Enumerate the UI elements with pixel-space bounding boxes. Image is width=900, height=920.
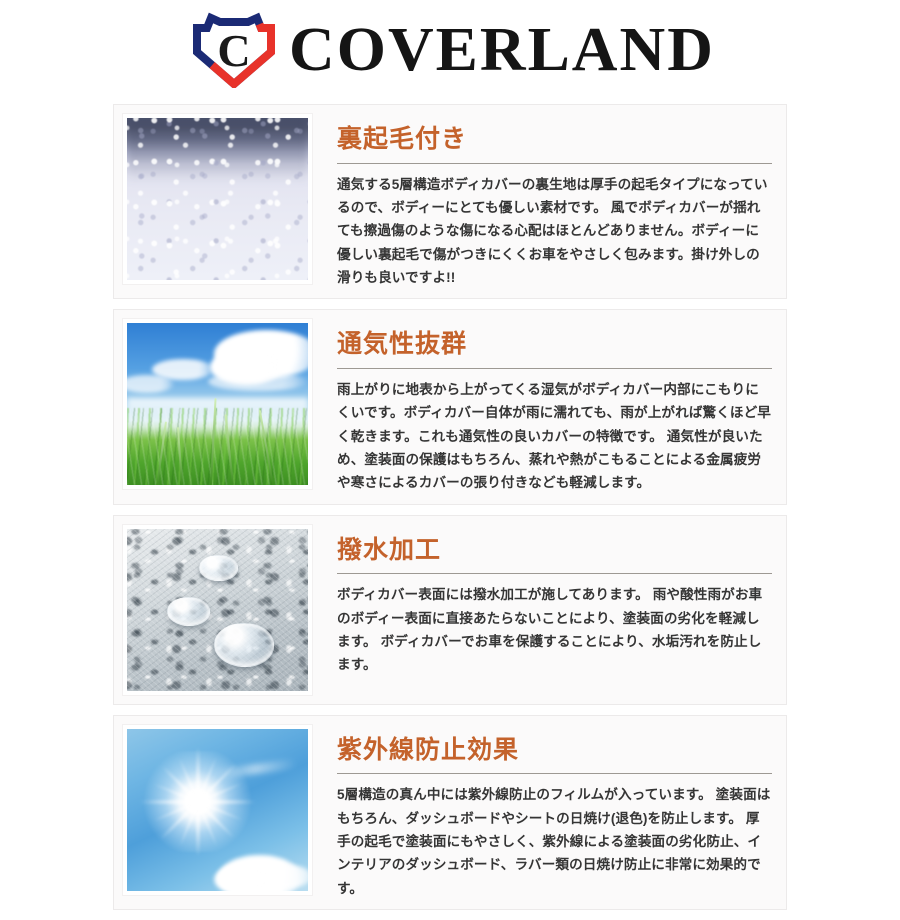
heading-divider [337, 573, 772, 574]
feature-list: 裏起毛付き 通気する5層構造ボディカバーの裏生地は厚手の起毛タイプになっているの… [113, 104, 787, 920]
feature-heading: 通気性抜群 [337, 331, 772, 368]
feature-heading: 裏起毛付き [337, 126, 772, 163]
heading-divider [337, 773, 772, 774]
feature-text-block: 裏起毛付き 通気する5層構造ボディカバーの裏生地は厚手の起毛タイプになっているの… [312, 114, 776, 289]
sky-grass-photo [123, 319, 312, 489]
feature-card-2: 通気性抜群 雨上がりに地表から上がってくる湿気がボディカバー内部にこもりにくいで… [113, 309, 787, 504]
svg-text:C: C [218, 25, 251, 76]
feature-text-block: 通気性抜群 雨上がりに地表から上がってくる湿気がボディカバー内部にこもりにくいで… [312, 319, 776, 494]
feature-card-4: 紫外線防止効果 5層構造の真ん中には紫外線防止のフィルムが入っています。 塗装面… [113, 715, 787, 910]
fleece-texture-photo [123, 114, 312, 284]
feature-heading: 撥水加工 [337, 537, 772, 574]
feature-description: 5層構造の真ん中には紫外線防止のフィルムが入っています。 塗装面はもちろん、ダッ… [337, 783, 772, 900]
feature-heading: 紫外線防止効果 [337, 737, 772, 774]
brand-header: C COVERLAND [0, 0, 900, 100]
feature-card-3: 撥水加工 ボディカバー表面には撥水加工が施してあります。 雨や酸性雨がお車のボデ… [113, 515, 787, 705]
feature-description: 雨上がりに地表から上がってくる湿気がボディカバー内部にこもりにくいです。ボディカ… [337, 378, 772, 495]
feature-text-block: 撥水加工 ボディカバー表面には撥水加工が施してあります。 雨や酸性雨がお車のボデ… [312, 525, 776, 695]
product-feature-page: C COVERLAND 裏起毛付き 通気する5層構造ボディカバーの裏生地は厚手の… [0, 0, 900, 900]
water-droplets-photo [123, 525, 312, 695]
feature-text-block: 紫外線防止効果 5層構造の真ん中には紫外線防止のフィルムが入っています。 塗装面… [312, 725, 776, 900]
shield-logo-icon: C [193, 12, 275, 88]
brand-name: COVERLAND [289, 19, 715, 81]
feature-card-1: 裏起毛付き 通気する5層構造ボディカバーの裏生地は厚手の起毛タイプになっているの… [113, 104, 787, 299]
heading-divider [337, 163, 772, 164]
sun-sky-photo [123, 725, 312, 895]
feature-description: 通気する5層構造ボディカバーの裏生地は厚手の起毛タイプになっているので、ボディー… [337, 173, 772, 290]
feature-description: ボディカバー表面には撥水加工が施してあります。 雨や酸性雨がお車のボディー表面に… [337, 583, 772, 677]
heading-divider [337, 368, 772, 369]
